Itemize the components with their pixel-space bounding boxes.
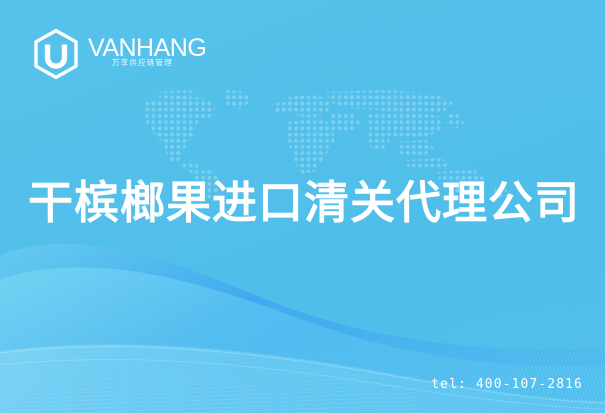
- bottom-hatch-texture: [0, 333, 420, 413]
- contact-phone: tel: 400-107-2816: [431, 377, 583, 392]
- vanhang-hexagon-icon: [33, 29, 79, 79]
- logo-wordmark-block: VANHANG 万享供应链管理: [88, 32, 206, 76]
- logo-subtitle: 万享供应链管理: [112, 59, 173, 67]
- brand-logo: VANHANG 万享供应链管理: [33, 29, 206, 79]
- promo-banner: VANHANG 万享供应链管理 干槟榔果进口清关代理公司 tel: 400-10…: [0, 0, 605, 413]
- page-title: 干槟榔果进口清关代理公司: [28, 178, 588, 228]
